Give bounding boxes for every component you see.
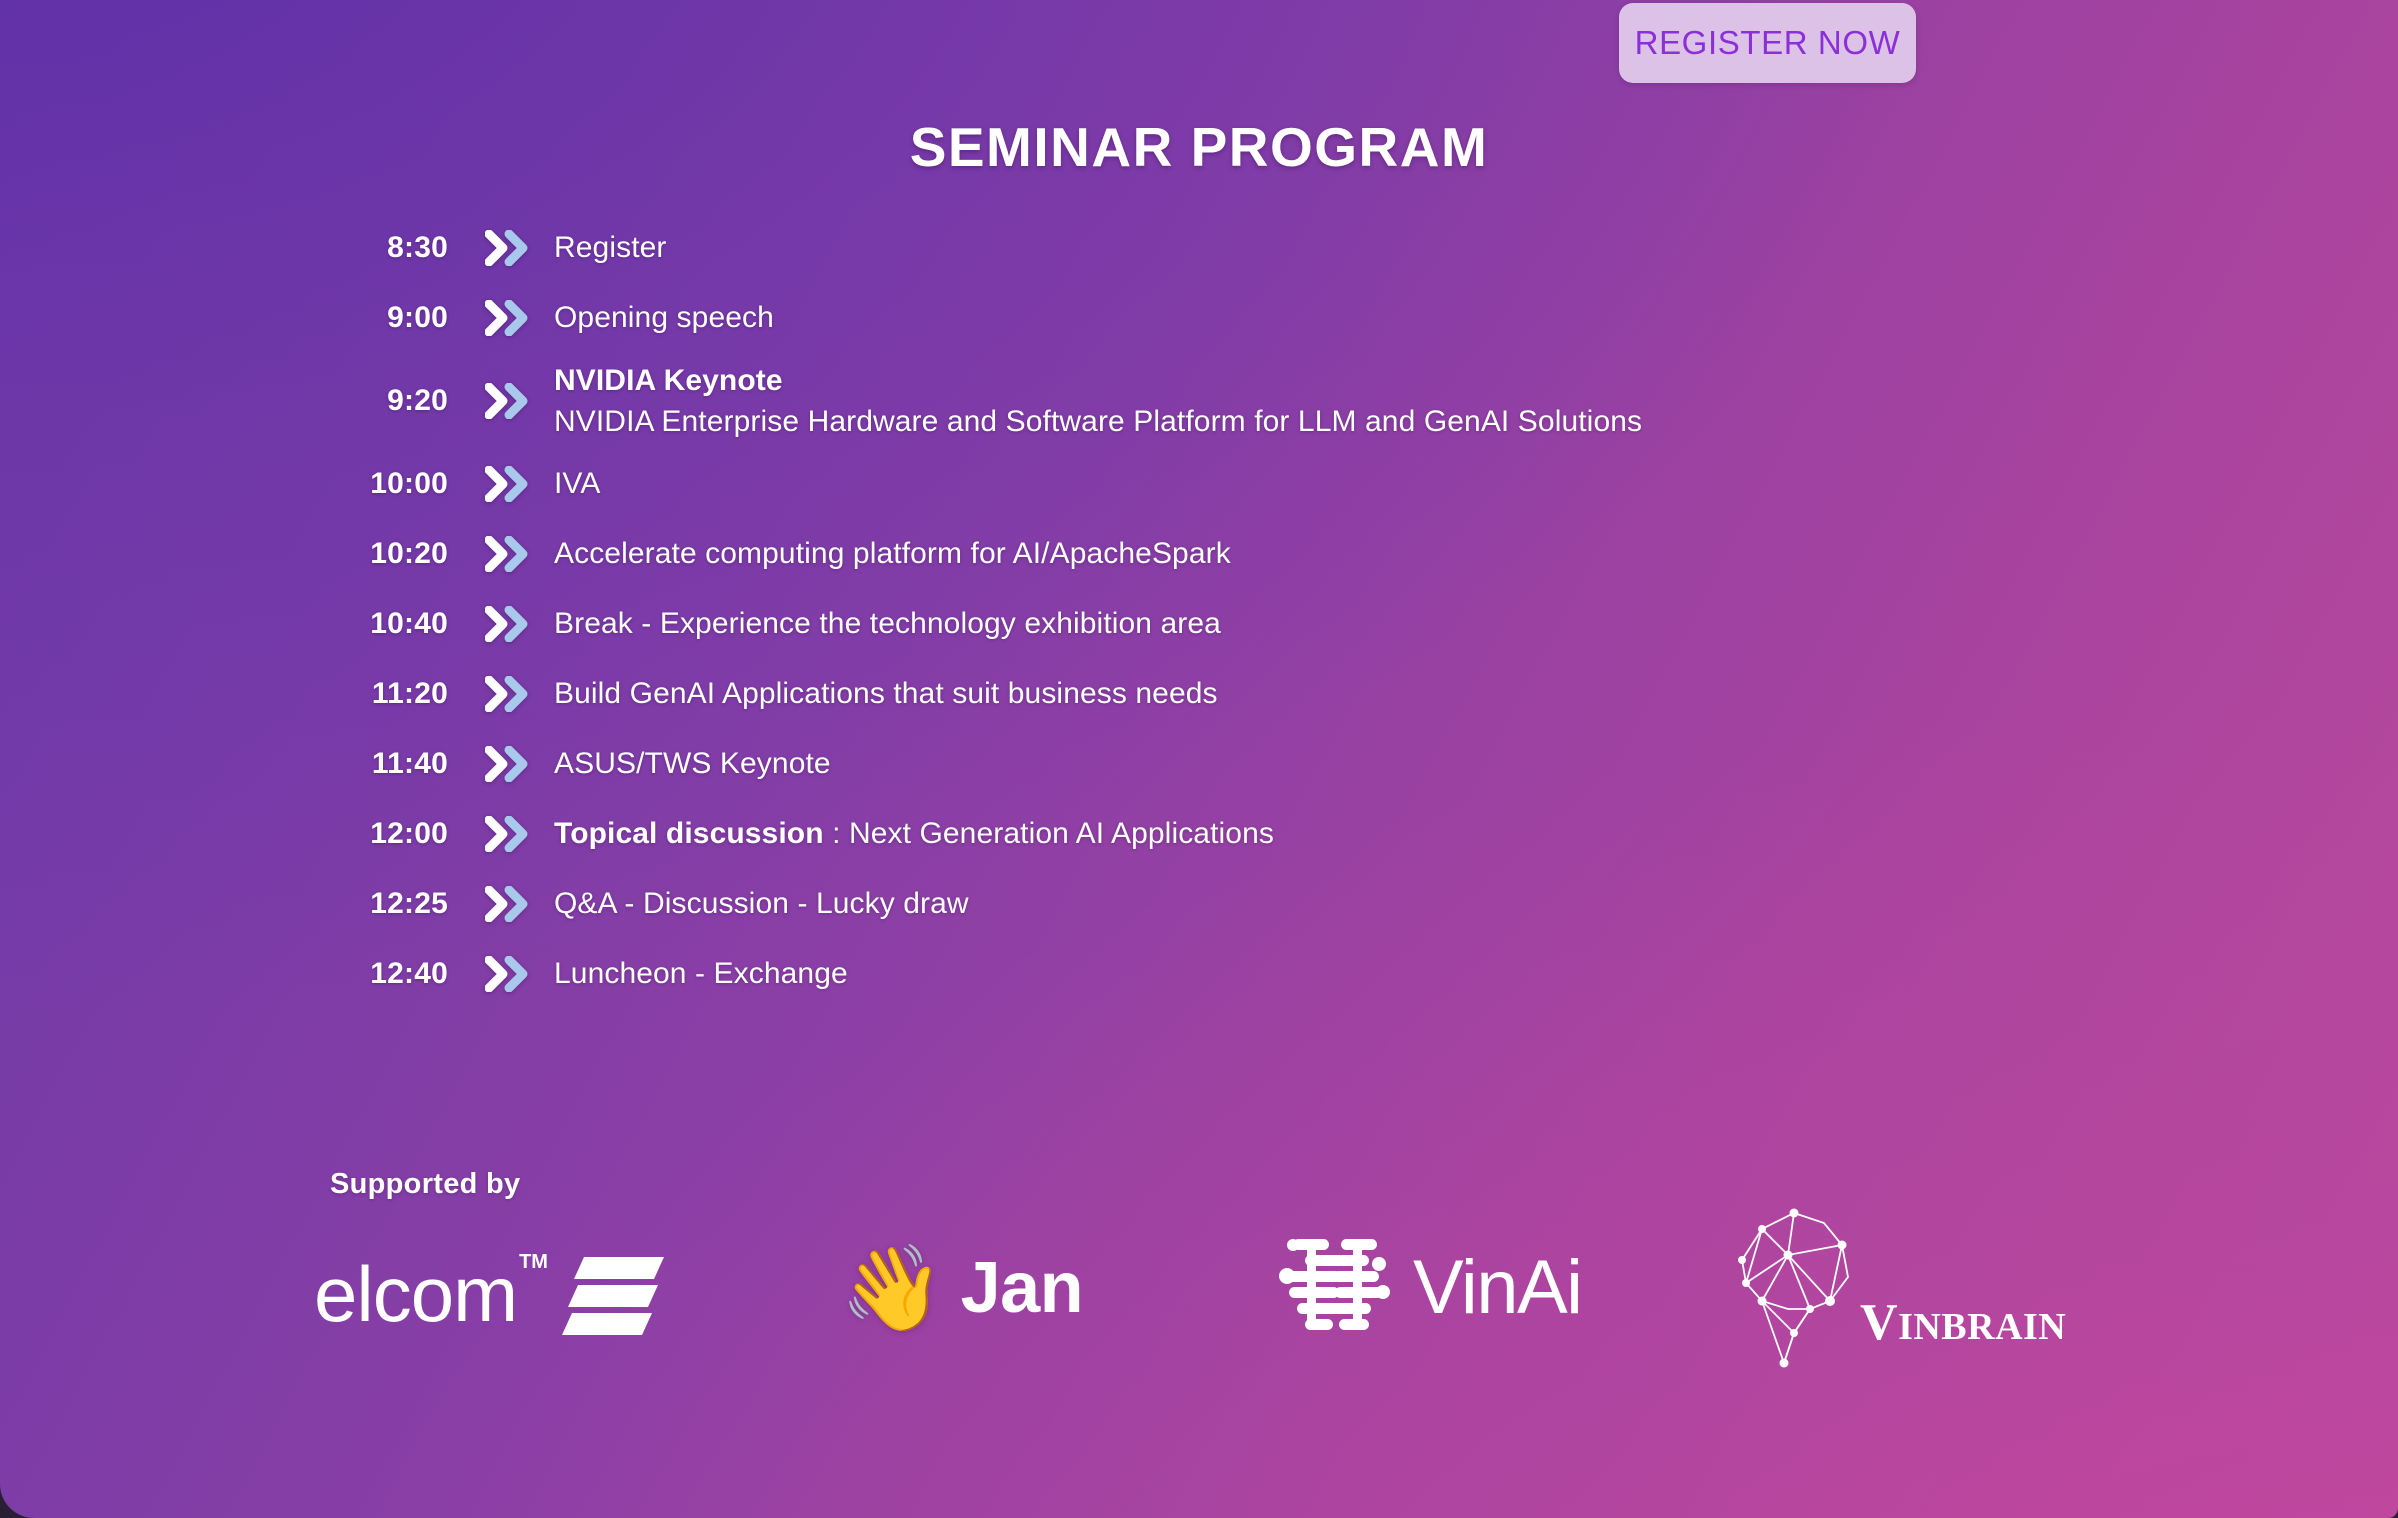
agenda-row-title: Q&A - Discussion - Lucky draw [554, 887, 969, 920]
agenda-row-time: 11:40 [330, 747, 448, 781]
agenda-row-time: 9:20 [330, 384, 448, 418]
elcom-e-mark-icon [558, 1255, 666, 1344]
trademark-symbol: TM [519, 1251, 548, 1274]
agenda-row: 10:20Accelerate computing platform for A… [330, 519, 2230, 589]
agenda-row-text: ASUS/TWS Keynote [554, 743, 2230, 784]
agenda-row-time: 12:00 [330, 817, 448, 851]
agenda-row: 10:40Break - Experience the technology e… [330, 589, 2230, 659]
double-chevron-right-icon [474, 466, 542, 502]
agenda-row-time: 9:00 [330, 301, 448, 335]
agenda-row-title-suffix: : Next Generation AI Applications [824, 817, 1274, 850]
sponsor-logo-vinai[interactable]: VinAi [1275, 1205, 1582, 1370]
double-chevron-right-icon [474, 230, 542, 266]
sponsor-logos: elcom TM 👋 Jan [300, 1205, 2300, 1370]
agenda-row-title: Break - Experience the technology exhibi… [554, 607, 1221, 640]
agenda-row-title: ASUS/TWS Keynote [554, 747, 831, 780]
agenda-row-time: 10:00 [330, 467, 448, 501]
double-chevron-right-icon [474, 956, 542, 992]
agenda-row-title: IVA [554, 467, 600, 500]
agenda-row-time: 10:40 [330, 607, 448, 641]
agenda-row-title: Topical discussion [554, 817, 824, 850]
vinai-circuit-mark-icon [1275, 1229, 1395, 1346]
vinbrain-wordmark: VINBRAIN [1860, 1297, 2066, 1349]
agenda-row: 10:00IVA [330, 449, 2230, 519]
double-chevron-right-icon [474, 606, 542, 642]
agenda-list: 8:30Register9:00Opening speech9:20NVIDIA… [330, 213, 2230, 1009]
agenda-row: 8:30Register [330, 213, 2230, 283]
waving-hand-icon: 👋 [840, 1246, 945, 1330]
agenda-row-text: IVA [554, 463, 2230, 504]
double-chevron-right-icon [474, 746, 542, 782]
agenda-row: 11:20Build GenAI Applications that suit … [330, 659, 2230, 729]
agenda-row-text: NVIDIA KeynoteNVIDIA Enterprise Hardware… [554, 360, 2230, 443]
agenda-row-title: Luncheon - Exchange [554, 957, 848, 990]
agenda-row-text: Build GenAI Applications that suit busin… [554, 673, 2230, 714]
agenda-row: 9:20NVIDIA KeynoteNVIDIA Enterprise Hard… [330, 353, 2230, 449]
agenda-row: 9:00Opening speech [330, 283, 2230, 353]
agenda-row-title: Build GenAI Applications that suit busin… [554, 677, 1218, 710]
agenda-row-text: Luncheon - Exchange [554, 953, 2230, 994]
vinbrain-initial: V [1860, 1294, 1898, 1351]
agenda-row-title: Opening speech [554, 301, 774, 334]
sponsor-logo-jan[interactable]: 👋 Jan [840, 1205, 1083, 1370]
agenda-row-text: Topical discussion : Next Generation AI … [554, 813, 2230, 854]
vinbrain-rest: INBRAIN [1898, 1306, 2066, 1348]
agenda-row-time: 12:40 [330, 957, 448, 991]
jan-wordmark: Jan [961, 1252, 1084, 1324]
agenda-row-title: Register [554, 231, 667, 264]
agenda-row-text: Break - Experience the technology exhibi… [554, 603, 2230, 644]
agenda-row-text: Register [554, 227, 2230, 268]
supported-by-label: Supported by [330, 1168, 521, 1201]
seminar-program-poster: REGISTER NOW SEMINAR PROGRAM 8:30Registe… [0, 0, 2398, 1518]
agenda-row-time: 8:30 [330, 231, 448, 265]
agenda-row-text: Accelerate computing platform for AI/Apa… [554, 533, 2230, 574]
double-chevron-right-icon [474, 383, 542, 419]
double-chevron-right-icon [474, 886, 542, 922]
agenda-row-time: 10:20 [330, 537, 448, 571]
agenda-row-time: 12:25 [330, 887, 448, 921]
double-chevron-right-icon [474, 816, 542, 852]
double-chevron-right-icon [474, 300, 542, 336]
agenda-row-text: Opening speech [554, 297, 2230, 338]
sponsor-logo-elcom[interactable]: elcom TM [314, 1205, 666, 1370]
page-title: SEMINAR PROGRAM [0, 115, 2398, 179]
agenda-row-text: Q&A - Discussion - Lucky draw [554, 883, 2230, 924]
double-chevron-right-icon [474, 676, 542, 712]
agenda-row: 11:40ASUS/TWS Keynote [330, 729, 2230, 799]
vinai-wordmark: VinAi [1413, 1250, 1582, 1326]
elcom-wordmark: elcom [314, 1255, 517, 1333]
sponsor-logo-vinbrain[interactable]: VINBRAIN [1732, 1205, 2072, 1370]
agenda-row: 12:00Topical discussion : Next Generatio… [330, 799, 2230, 869]
agenda-row: 12:40Luncheon - Exchange [330, 939, 2230, 1009]
register-now-button[interactable]: REGISTER NOW [1619, 3, 1916, 83]
agenda-row-time: 11:20 [330, 677, 448, 711]
double-chevron-right-icon [474, 536, 542, 572]
agenda-row: 12:25Q&A - Discussion - Lucky draw [330, 869, 2230, 939]
agenda-row-subtitle: NVIDIA Enterprise Hardware and Software … [554, 401, 2230, 442]
agenda-row-title: NVIDIA Keynote [554, 364, 783, 397]
agenda-row-title: Accelerate computing platform for AI/Apa… [554, 537, 1231, 570]
